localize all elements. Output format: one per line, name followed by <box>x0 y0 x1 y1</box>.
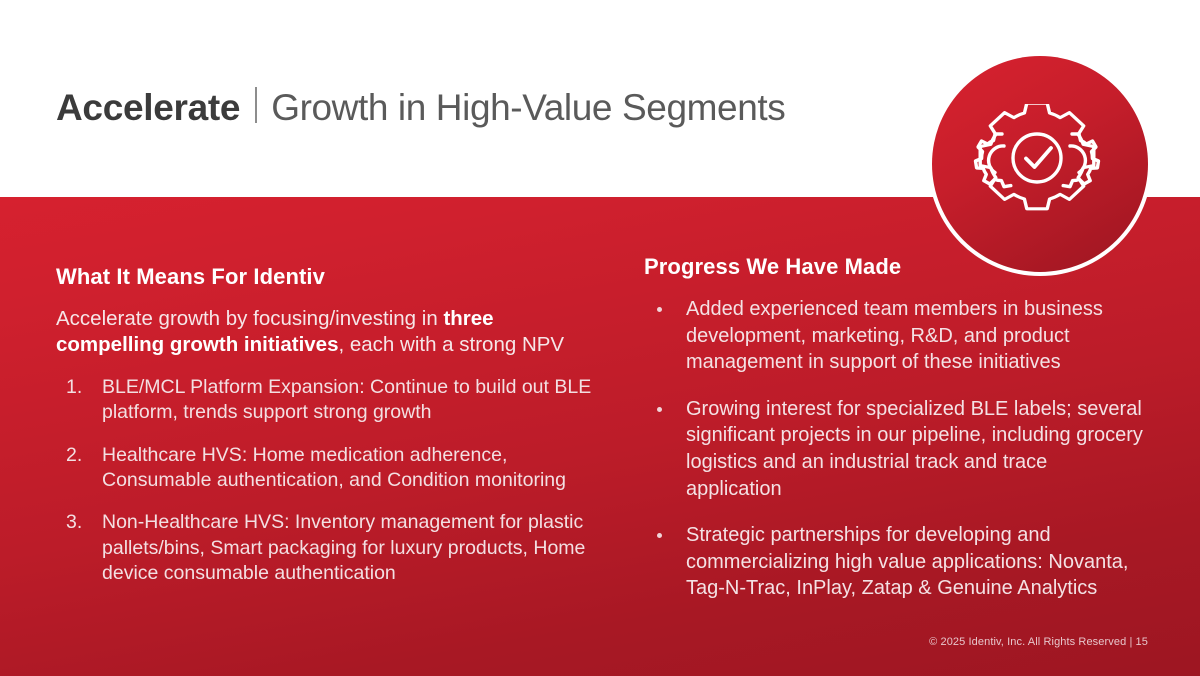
list-item-text: Non-Healthcare HVS: Inventory management… <box>102 511 585 584</box>
presentation-slide: Accelerate Growth in High-Value Segments <box>0 0 1200 676</box>
list-item-text: Strategic partnerships for developing an… <box>686 524 1128 599</box>
title-light-part: Growth in High-Value Segments <box>271 87 785 129</box>
bullet-dot-icon <box>657 533 662 538</box>
bullet-dot-icon <box>657 407 662 412</box>
footer-copyright: © 2025 Identiv, Inc. All Rights Reserved… <box>929 636 1148 648</box>
title-divider-icon <box>255 87 257 123</box>
list-item: Growing interest for specialized BLE lab… <box>644 396 1144 502</box>
list-item-text: Healthcare HVS: Home medication adherenc… <box>102 444 566 491</box>
title-bold-part: Accelerate <box>56 87 240 129</box>
badge-gears-check <box>928 52 1152 276</box>
left-column-heading: What It Means For Identiv <box>56 264 616 290</box>
list-item-marker: 2. <box>66 443 96 468</box>
list-item-marker: 1. <box>66 375 96 400</box>
list-item: Strategic partnerships for developing an… <box>644 522 1144 602</box>
bullet-dot-icon <box>657 307 662 312</box>
right-column: Progress We Have Made Added experienced … <box>644 254 1154 622</box>
page-title: Accelerate Growth in High-Value Segments <box>56 84 876 144</box>
left-column-lead: Accelerate growth by focusing/investing … <box>56 306 596 359</box>
list-item: 1. BLE/MCL Platform Expansion: Continue … <box>56 375 616 426</box>
left-column: What It Means For Identiv Accelerate gro… <box>56 264 616 603</box>
right-column-bullet-list: Added experienced team members in busine… <box>644 296 1154 602</box>
list-item-text: Added experienced team members in busine… <box>686 298 1103 373</box>
lead-text-before: Accelerate growth by focusing/investing … <box>56 307 443 330</box>
left-column-numbered-list: 1. BLE/MCL Platform Expansion: Continue … <box>56 375 616 586</box>
gears-check-icon <box>956 104 1118 216</box>
list-item: 2. Healthcare HVS: Home medication adher… <box>56 443 616 494</box>
list-item: Added experienced team members in busine… <box>644 296 1144 376</box>
list-item-text: Growing interest for specialized BLE lab… <box>686 398 1143 500</box>
list-item: 3. Non-Healthcare HVS: Inventory managem… <box>56 510 616 586</box>
lead-text-after: , each with a strong NPV <box>338 333 564 356</box>
list-item-marker: 3. <box>66 510 96 535</box>
list-item-text: BLE/MCL Platform Expansion: Continue to … <box>102 376 591 423</box>
